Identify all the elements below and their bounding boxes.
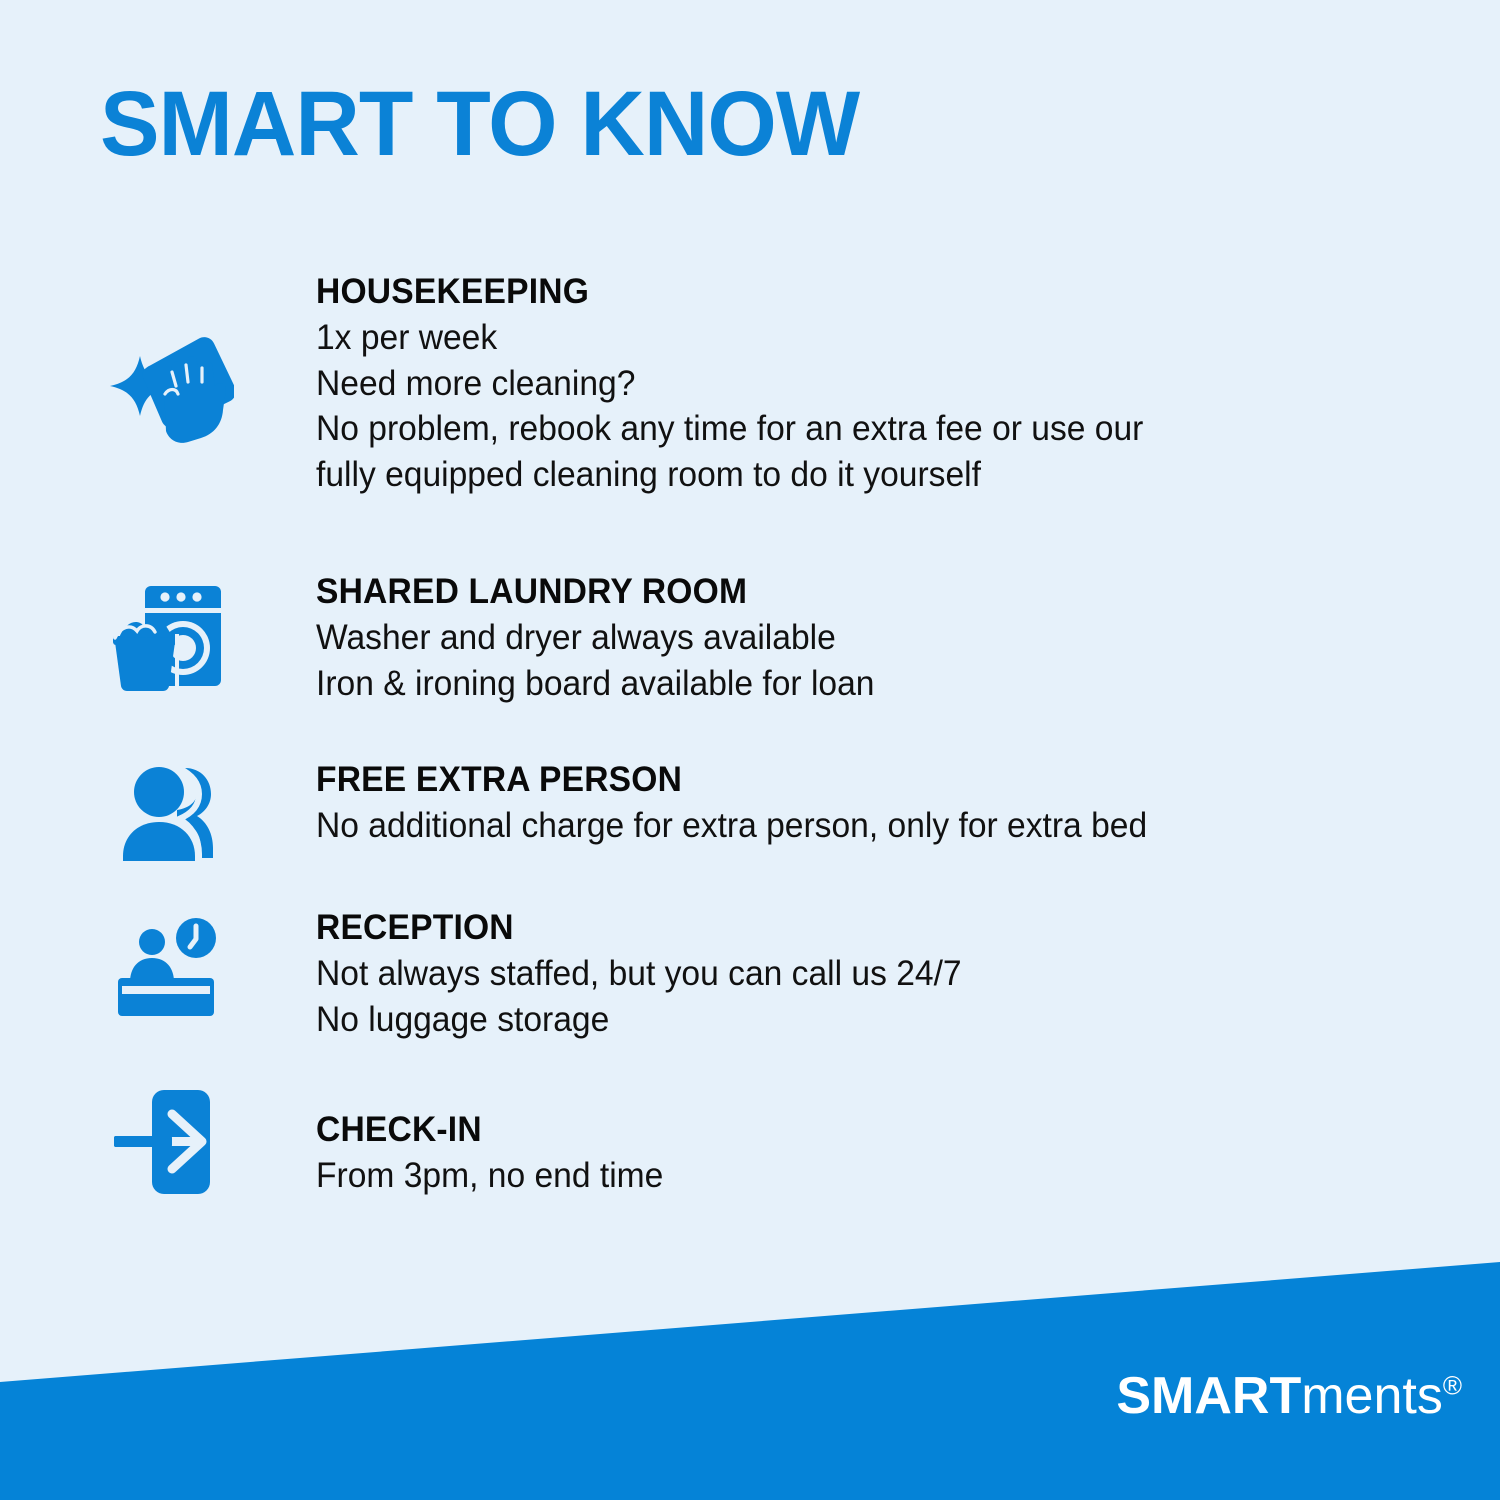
list-item-line: Washer and dryer always available [316,615,1453,661]
registered-trademark-icon: ® [1443,1371,1462,1401]
list-item-text: RECEPTION Not always staffed, but you ca… [246,904,1500,1042]
logo-ments: ments [1301,1367,1443,1425]
list-item-line: No additional charge for extra person, o… [316,803,1453,849]
door-enter-arrow-icon [0,1084,246,1198]
list-item-text: HOUSEKEEPING 1x per week Need more clean… [246,272,1500,497]
washing-machine-icon [0,572,246,694]
list-item-check-in: CHECK-IN From 3pm, no end time [0,1084,1500,1199]
brand-logo: SMARTments® [1116,1370,1462,1422]
list-item-line: fully equipped cleaning room to do it yo… [316,452,1453,498]
list-item-text: FREE EXTRA PERSON No additional charge f… [246,760,1500,849]
list-item-heading: CHECK-IN [316,1110,1453,1149]
cleaning-hand-icon [0,272,246,452]
list-item-line: Iron & ironing board available for loan [316,661,1453,707]
list-item-shared-laundry-room: SHARED LAUNDRY ROOM Washer and dryer alw… [0,572,1500,706]
list-item-line: 1x per week [316,315,1453,361]
list-item-line: Not always staffed, but you can call us … [316,951,1453,997]
list-item-text: CHECK-IN From 3pm, no end time [246,1084,1500,1199]
page-title: SMART TO KNOW [100,78,859,170]
two-persons-icon [0,760,246,862]
list-item-free-extra-person: FREE EXTRA PERSON No additional charge f… [0,760,1500,862]
footer-diagonal-band [0,0,1500,1500]
list-item-heading: HOUSEKEEPING [316,272,1453,311]
list-item-housekeeping: HOUSEKEEPING 1x per week Need more clean… [0,272,1500,497]
list-item-line: Need more cleaning? [316,361,1453,407]
reception-desk-icon [0,904,246,1020]
list-item-reception: RECEPTION Not always staffed, but you ca… [0,904,1500,1042]
list-item-heading: RECEPTION [316,908,1453,947]
list-item-heading: FREE EXTRA PERSON [316,760,1453,799]
logo-smart: SMART [1116,1367,1301,1425]
list-item-line: No luggage storage [316,997,1453,1043]
poster-canvas: SMART TO KNOW [0,0,1500,1500]
list-item-text: SHARED LAUNDRY ROOM Washer and dryer alw… [246,572,1500,706]
list-item-line: From 3pm, no end time [316,1153,1453,1199]
list-item-line: No problem, rebook any time for an extra… [316,406,1453,452]
list-item-heading: SHARED LAUNDRY ROOM [316,572,1453,611]
